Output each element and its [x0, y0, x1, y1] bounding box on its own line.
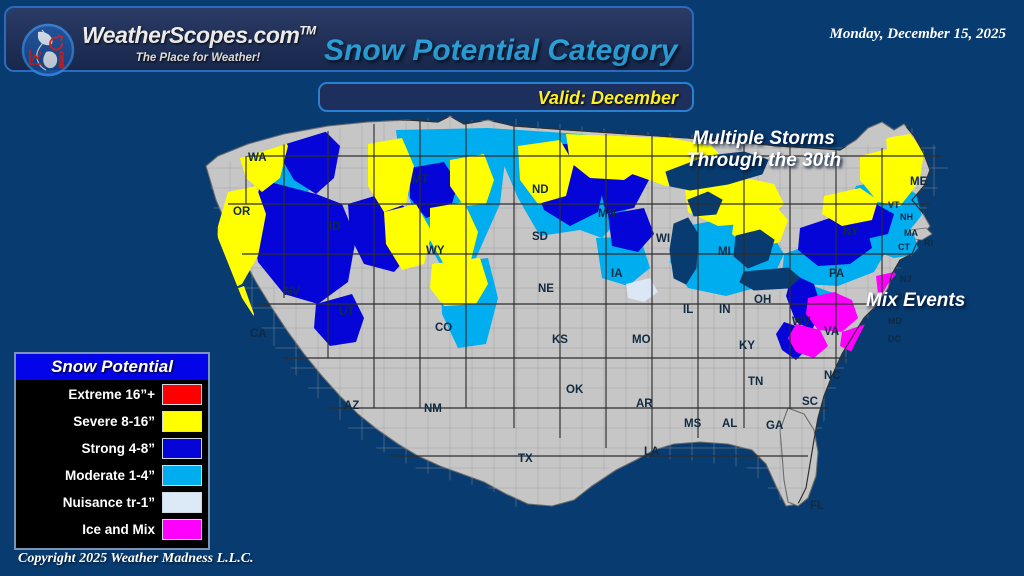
legend-row: Nuisance tr-1”: [16, 490, 208, 515]
legend-row: Extreme 16”+: [16, 382, 208, 407]
legend-row: Severe 8-16”: [16, 409, 208, 434]
header-panel: WeatherScopes.comTM The Place for Weathe…: [4, 6, 694, 72]
legend-title: Snow Potential: [16, 354, 208, 380]
legend-label: Nuisance tr-1”: [63, 495, 155, 510]
legend-label: Moderate 1-4”: [65, 468, 155, 483]
legend-label: Severe 8-16”: [73, 414, 155, 429]
legend-label: Ice and Mix: [82, 522, 155, 537]
us-snow-potential-map[interactable]: [188, 108, 978, 528]
brand-tagline: The Place for Weather!: [82, 52, 314, 64]
legend-swatch: [162, 411, 202, 432]
legend-swatch: [162, 465, 202, 486]
annotation-multiple-storms: Multiple Storms Through the 30th: [686, 128, 841, 172]
legend-row: Ice and Mix: [16, 517, 208, 542]
weather-map-page: WAORCANVIDMTWYUTCOAZNMNDSDNEKSOKTXMNIAMO…: [0, 0, 1024, 576]
annotation-storms-line2: Through the 30th: [686, 150, 841, 172]
legend-swatch: [162, 384, 202, 405]
globe-weather-logo-icon: [20, 22, 76, 78]
valid-panel: Valid: December: [318, 82, 694, 112]
legend-label: Strong 4-8”: [81, 441, 155, 456]
date-label: Monday, December 15, 2025: [830, 26, 1007, 43]
legend-panel: Snow Potential Extreme 16”+Severe 8-16”S…: [14, 352, 210, 550]
valid-text: Valid: December: [538, 88, 678, 109]
brand-name-text: WeatherScopes.com: [82, 22, 299, 48]
annotation-mix-events: Mix Events: [866, 290, 965, 312]
legend-row: Strong 4-8”: [16, 436, 208, 461]
legend-swatch: [162, 438, 202, 459]
brand-trademark: TM: [299, 23, 315, 37]
page-title: Snow Potential Category: [324, 34, 704, 68]
copyright-text: Copyright 2025 Weather Madness L.L.C.: [18, 551, 254, 567]
annotation-storms-line1: Multiple Storms: [686, 128, 841, 150]
legend-label: Extreme 16”+: [68, 387, 155, 402]
legend-swatch: [162, 492, 202, 513]
legend-row: Moderate 1-4”: [16, 463, 208, 488]
legend-rows: Extreme 16”+Severe 8-16”Strong 4-8”Moder…: [16, 382, 208, 542]
legend-swatch: [162, 519, 202, 540]
